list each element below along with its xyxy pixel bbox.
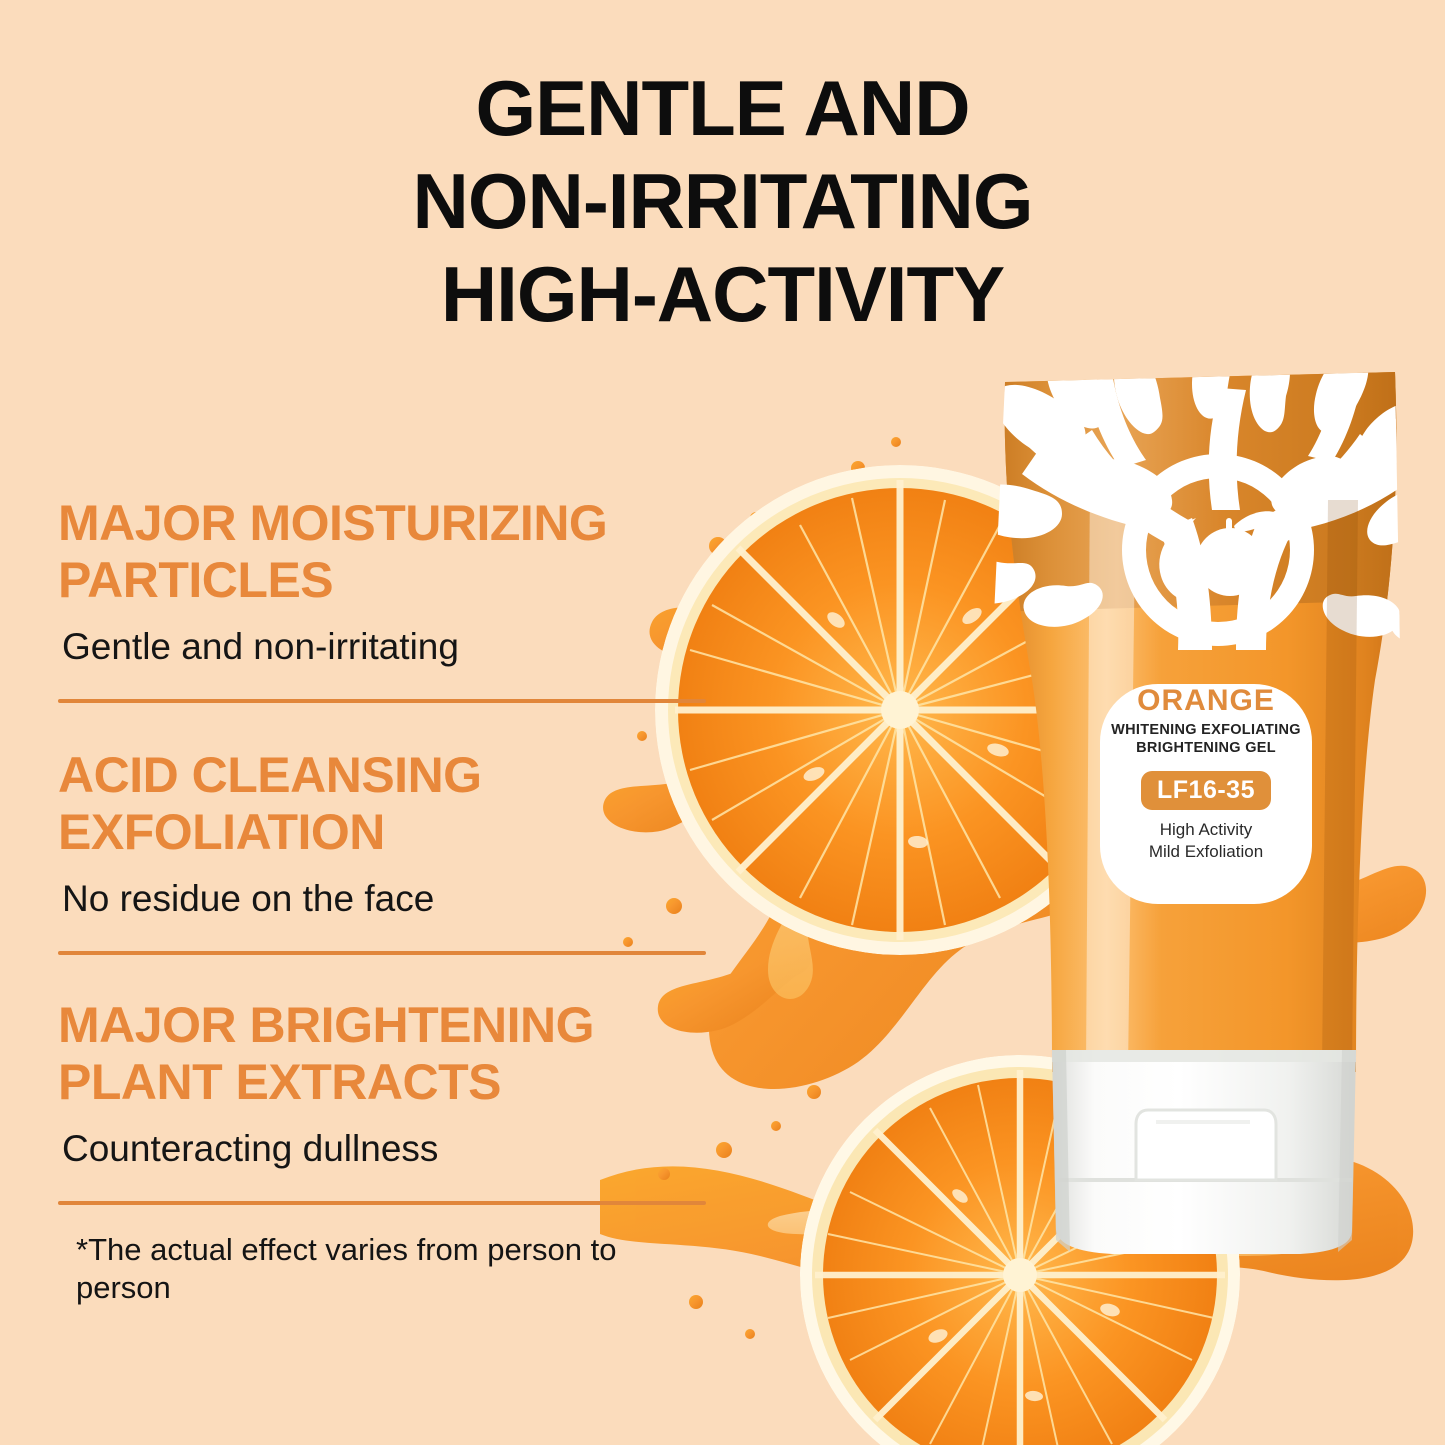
product-benefit-line1: High Activity (1100, 819, 1312, 841)
feature-title: MAJOR BRIGHTENING PLANT EXTRACTS (58, 997, 713, 1111)
product-code-badge-text: LF16-35 (1157, 776, 1255, 804)
orange-slice-top (655, 465, 1145, 955)
feature-item-moisturizing: MAJOR MOISTURIZING PARTICLES Gentle and … (58, 495, 713, 669)
feature-title: MAJOR MOISTURIZING PARTICLES (58, 495, 713, 609)
decorative-artwork (600, 350, 1445, 1445)
page-headline: GENTLE AND NON-IRRITATING HIGH-ACTIVITY (0, 62, 1445, 341)
product-code-badge: LF16-35 (1141, 771, 1271, 810)
product-descriptor-line1: WHITENING EXFOLIATING (1100, 721, 1312, 739)
feature-item-brightening: MAJOR BRIGHTENING PLANT EXTRACTS Counter… (58, 997, 713, 1171)
feature-list: MAJOR MOISTURIZING PARTICLES Gentle and … (58, 495, 713, 1307)
product-brand-name: ORANGE (1100, 684, 1312, 718)
product-marketing-banner: ORANGE WHITENING EXFOLIATING BRIGHTENING… (0, 0, 1445, 1445)
headline-line-2: NON-IRRITATING (0, 155, 1445, 248)
product-descriptor-line2: BRIGHTENING GEL (1100, 739, 1312, 757)
orange-slice-bottom (800, 1055, 1240, 1445)
product-label-text: ORANGE WHITENING EXFOLIATING BRIGHTENING… (1100, 684, 1312, 863)
feature-title: ACID CLEANSING EXFOLIATION (58, 747, 713, 861)
feature-subtitle: Counteracting dullness (62, 1127, 713, 1171)
feature-item-exfoliation: ACID CLEANSING EXFOLIATION No residue on… (58, 747, 713, 921)
product-benefit-line2: Mild Exfoliation (1100, 841, 1312, 863)
feature-divider-3 (58, 1201, 706, 1205)
feature-subtitle: Gentle and non-irritating (62, 625, 713, 669)
headline-line-3: HIGH-ACTIVITY (0, 248, 1445, 341)
headline-line-1: GENTLE AND (0, 62, 1445, 155)
feature-subtitle: No residue on the face (62, 877, 713, 921)
disclaimer-footnote: *The actual effect varies from person to… (76, 1231, 713, 1307)
